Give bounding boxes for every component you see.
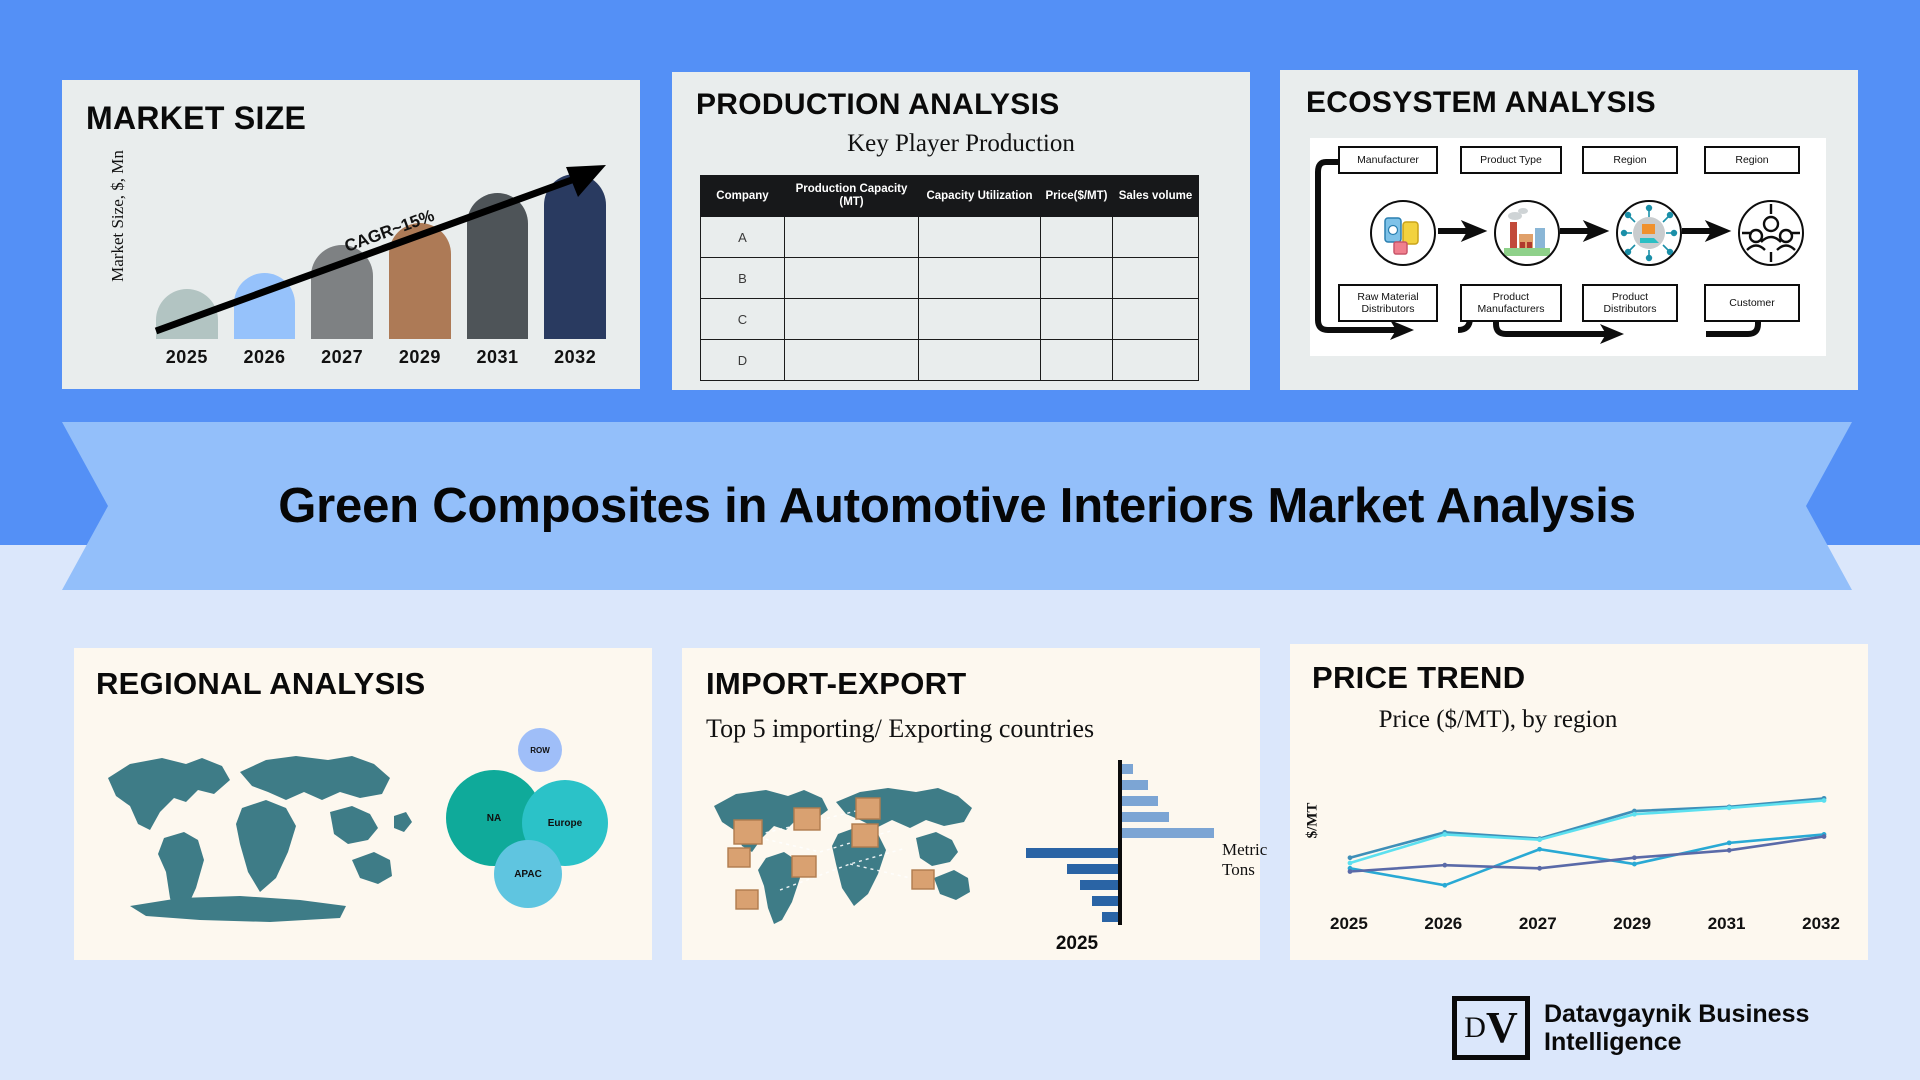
price-trend-x-tick: 2025 [1330, 914, 1368, 934]
regional-analysis-card: REGIONAL ANALYSIS NAEuropeAPACROW [74, 648, 652, 960]
tornado-year-label: 2025 [1034, 933, 1120, 955]
production-analysis-subtitle: Key Player Production [672, 130, 1250, 159]
region-bubble-apac: APAC [494, 840, 562, 908]
table-row: A [701, 217, 1199, 258]
ecosystem-bottom-box: Product Distributors [1582, 284, 1678, 322]
table-cell [1113, 258, 1199, 299]
price-trend-point [1442, 863, 1447, 868]
regional-analysis-title: REGIONAL ANALYSIS [96, 668, 426, 699]
tornado-import-bar [1122, 780, 1148, 790]
table-cell: A [701, 217, 785, 258]
price-trend-subtitle: Price ($/MT), by region [1348, 706, 1648, 735]
table-cell: C [701, 299, 785, 340]
ecosystem-node-factory-icon [1494, 200, 1560, 266]
regional-bubble-chart: NAEuropeAPACROW [446, 722, 636, 922]
market-size-bar [544, 174, 606, 339]
logo-letter-v: V [1486, 1006, 1518, 1050]
ecosystem-bottom-box: Product Manufacturers [1460, 284, 1562, 322]
table-cell: B [701, 258, 785, 299]
tornado-export-bar [1080, 880, 1118, 890]
tornado-export-bar [1102, 912, 1118, 922]
table-cell: D [701, 340, 785, 381]
ecosystem-bottom-box: Customer [1704, 284, 1800, 322]
price-trend-point [1537, 847, 1542, 852]
price-trend-point [1348, 855, 1353, 860]
ecosystem-analysis-title: ECOSYSTEM ANALYSIS [1306, 88, 1656, 118]
market-size-title: MARKET SIZE [86, 102, 306, 134]
price-trend-point [1537, 837, 1542, 842]
price-trend-point [1632, 855, 1637, 860]
market-size-bar-label: 2026 [243, 347, 285, 368]
price-trend-point [1348, 861, 1353, 866]
market-size-bar-group: 2025 [156, 157, 218, 339]
price-trend-point [1727, 848, 1732, 853]
market-size-card: MARKET SIZE Market Size, $, Mn 202520262… [62, 80, 640, 389]
table-row: C [701, 299, 1199, 340]
table-cell [919, 217, 1041, 258]
ecosystem-top-box: Manufacturer [1338, 146, 1438, 174]
market-size-bar-group: 2031 [467, 157, 529, 339]
price-trend-line-chart [1342, 784, 1842, 904]
table-cell [919, 340, 1041, 381]
tornado-import-bar [1122, 796, 1158, 806]
price-trend-point [1537, 866, 1542, 871]
tornado-unit-label: Metric Tons [1222, 840, 1267, 880]
market-size-y-axis-label: Market Size, $, Mn [108, 136, 128, 296]
price-trend-x-axis: 202520262027202920312032 [1330, 914, 1840, 934]
table-cell [785, 217, 919, 258]
table-body: ABCD [701, 217, 1199, 381]
price-trend-y-axis-label: $/MT [1305, 776, 1322, 866]
ecosystem-top-box: Region [1582, 146, 1678, 174]
import-export-subtitle: Top 5 importing/ Exporting countries [706, 714, 1094, 744]
ecosystem-node-distribution-network-icon [1616, 200, 1682, 266]
table-column-header: Price($/MT) [1041, 176, 1113, 217]
production-analysis-title: PRODUCTION ANALYSIS [696, 90, 1060, 120]
price-trend-card: PRICE TREND Price ($/MT), by region $/MT… [1290, 644, 1868, 960]
price-trend-point [1727, 840, 1732, 845]
trade-routes-map-icon [700, 760, 990, 935]
table-header-row: CompanyProduction Capacity (MT)Capacity … [701, 176, 1199, 217]
market-size-bar-label: 2025 [166, 347, 208, 368]
price-trend-point [1442, 832, 1447, 837]
market-size-bar [311, 245, 373, 339]
market-size-bar-group: 2032 [544, 157, 606, 339]
market-size-chart: Market Size, $, Mn 202520262027202920312… [84, 158, 618, 373]
ecosystem-analysis-card: ECOSYSTEM ANALYSIS [1280, 70, 1858, 390]
table-row: D [701, 340, 1199, 381]
world-map-icon [90, 720, 420, 940]
logo-mark-dv: DV [1452, 996, 1530, 1060]
market-size-bar [234, 273, 296, 339]
tornado-export-bar [1026, 848, 1118, 858]
price-trend-point [1822, 834, 1827, 839]
table-column-header: Production Capacity (MT) [785, 176, 919, 217]
price-trend-point [1632, 862, 1637, 867]
price-trend-x-tick: 2026 [1424, 914, 1462, 934]
ecosystem-top-box: Product Type [1460, 146, 1562, 174]
tornado-import-bar [1122, 812, 1169, 822]
company-logo: DV Datavgaynik Business Intelligence [1452, 992, 1856, 1064]
price-trend-point [1632, 812, 1637, 817]
price-trend-point [1348, 869, 1353, 874]
table-cell [785, 299, 919, 340]
table-cell [1041, 217, 1113, 258]
tornado-import-bar [1122, 764, 1133, 774]
production-analysis-card: PRODUCTION ANALYSIS Key Player Productio… [672, 72, 1250, 390]
table-cell [919, 258, 1041, 299]
logo-line-1: Datavgaynik Business [1544, 1000, 1809, 1028]
table-cell [785, 340, 919, 381]
ecosystem-node-barrels-icon [1370, 200, 1436, 266]
market-size-bar [156, 289, 218, 339]
market-size-bars: 202520262027202920312032 [156, 157, 606, 339]
region-bubble-row: ROW [518, 728, 562, 772]
ecosystem-top-box: Region [1704, 146, 1800, 174]
price-trend-x-tick: 2031 [1708, 914, 1746, 934]
ecosystem-flow-diagram: ManufacturerProduct TypeRegionRegionRaw … [1310, 138, 1826, 356]
price-trend-x-tick: 2032 [1802, 914, 1840, 934]
table-cell [1113, 217, 1199, 258]
price-trend-x-tick: 2029 [1613, 914, 1651, 934]
key-player-production-table: CompanyProduction Capacity (MT)Capacity … [700, 175, 1199, 381]
table-cell [1113, 299, 1199, 340]
price-trend-line [1350, 800, 1824, 863]
market-size-bar [467, 193, 529, 339]
tornado-export-bar [1092, 896, 1118, 906]
logo-line-2: Intelligence [1544, 1028, 1809, 1056]
table-cell [1041, 340, 1113, 381]
table-column-header: Capacity Utilization [919, 176, 1041, 217]
price-trend-point [1727, 806, 1732, 811]
price-trend-x-tick: 2027 [1519, 914, 1557, 934]
table-column-header: Company [701, 176, 785, 217]
market-size-bar-group: 2026 [234, 157, 296, 339]
market-size-bar-group: 2029 [389, 157, 451, 339]
import-export-tornado-chart [1030, 760, 1210, 925]
ecosystem-node-customers-icon [1738, 200, 1804, 266]
table-cell [919, 299, 1041, 340]
market-size-bar-label: 2029 [399, 347, 441, 368]
market-size-bar-label: 2031 [476, 347, 518, 368]
price-trend-point [1442, 883, 1447, 888]
market-size-bar [389, 223, 451, 339]
price-trend-title: PRICE TREND [1312, 662, 1525, 693]
table-column-header: Sales volume [1113, 176, 1199, 217]
tornado-import-bar [1122, 828, 1214, 838]
table-cell [1041, 258, 1113, 299]
table-cell [1041, 299, 1113, 340]
table-cell [1113, 340, 1199, 381]
tornado-export-bar [1067, 864, 1118, 874]
price-trend-point [1822, 798, 1827, 803]
logo-wordmark: Datavgaynik Business Intelligence [1544, 1000, 1809, 1056]
market-size-bar-label: 2027 [321, 347, 363, 368]
market-size-bar-label: 2032 [554, 347, 596, 368]
ecosystem-bottom-box: Raw Material Distributors [1338, 284, 1438, 322]
table-row: B [701, 258, 1199, 299]
import-export-card: IMPORT-EXPORT Top 5 importing/ Exporting… [682, 648, 1260, 960]
import-export-title: IMPORT-EXPORT [706, 668, 967, 699]
banner-title: Green Composites in Automotive Interiors… [62, 422, 1852, 590]
logo-letter-d: D [1464, 1013, 1486, 1043]
table-cell [785, 258, 919, 299]
